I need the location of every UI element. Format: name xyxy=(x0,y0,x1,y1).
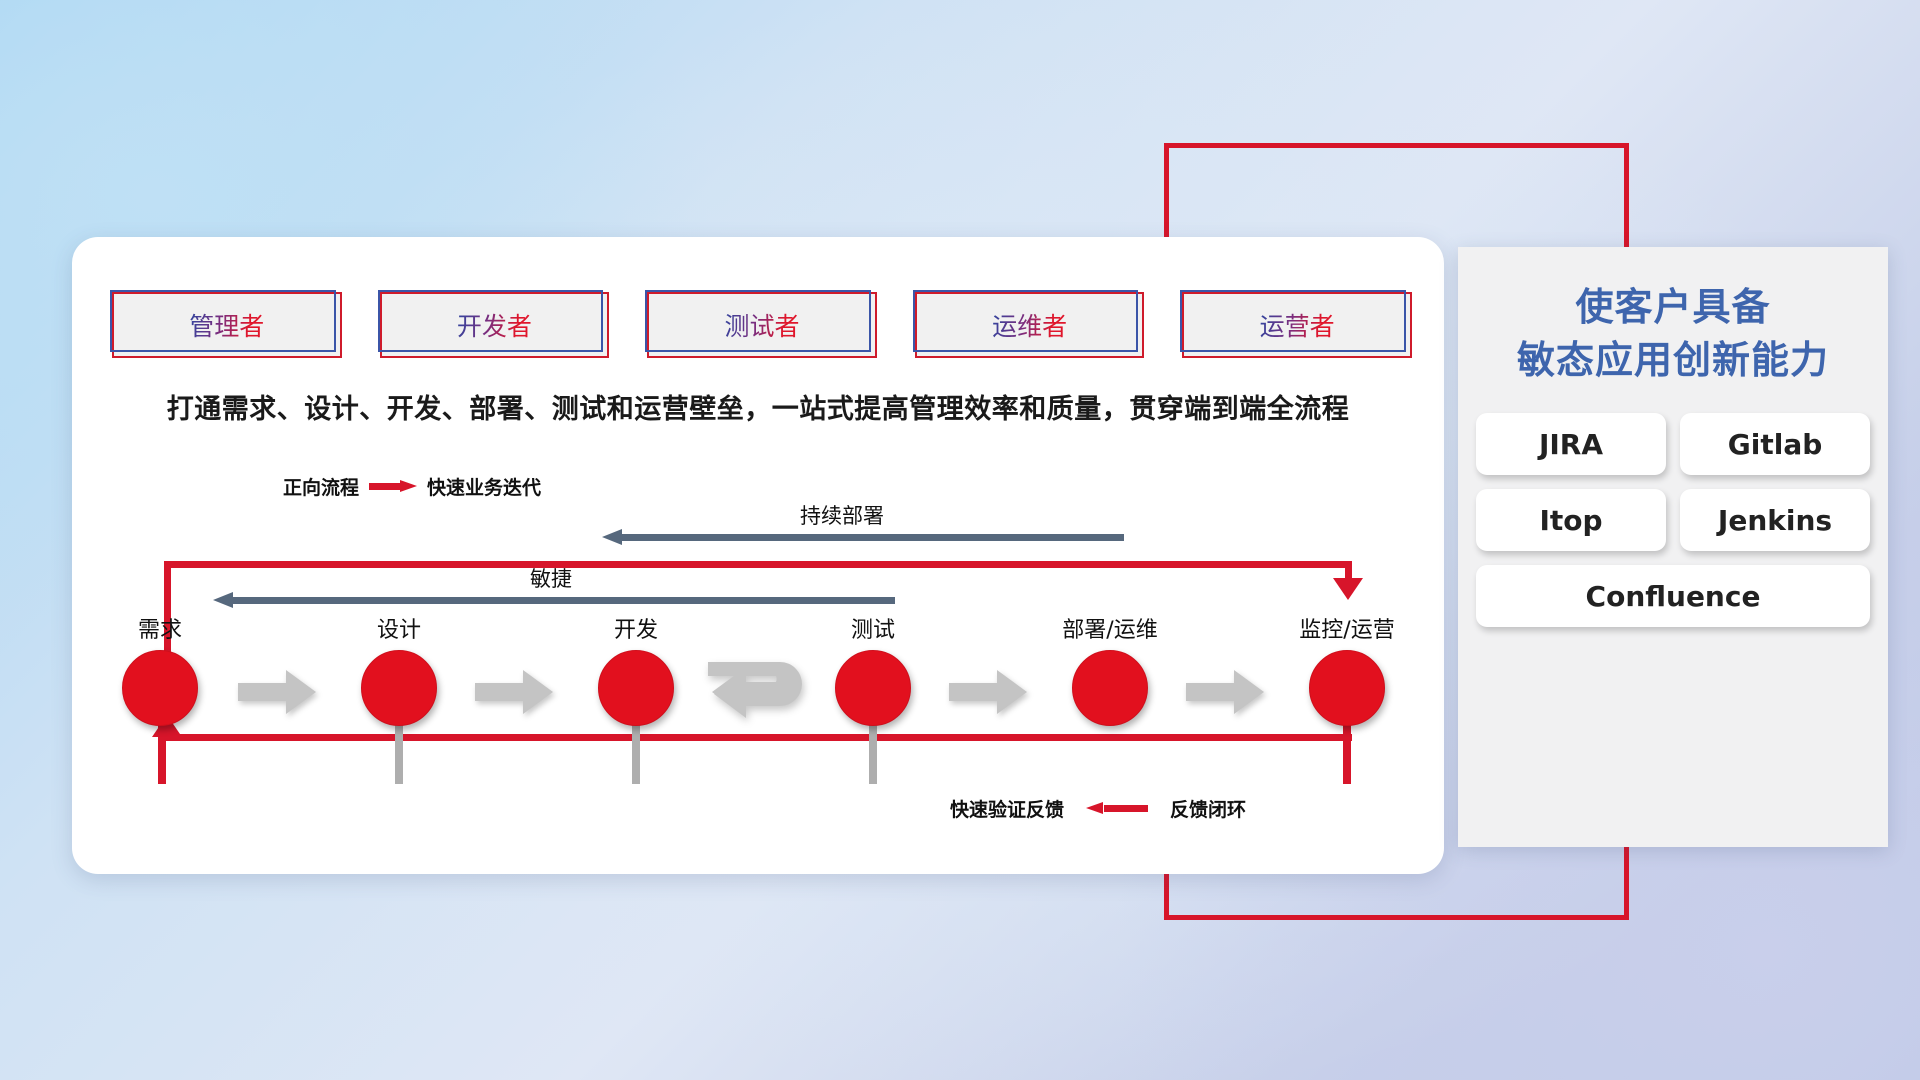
legend-forward-left-label: 正向流程 xyxy=(283,473,359,500)
role-label: 测试者 xyxy=(724,307,799,343)
legend-forward-flow: 正向流程 快速业务迭代 xyxy=(283,473,541,500)
stage-dot xyxy=(598,650,674,726)
stage-testing[interactable]: 测试 xyxy=(813,612,933,726)
panel-title-line2: 敏态应用创新能力 xyxy=(1458,334,1888,387)
stage-label: 设计 xyxy=(339,612,459,644)
role-label: 管理者 xyxy=(189,307,264,343)
role-label: 开发者 xyxy=(457,307,532,343)
loop-cycle-arrow-icon xyxy=(706,656,816,720)
panel-title-line1: 使客户具备 xyxy=(1458,281,1888,334)
span-label-continuous-deployment: 持续部署 xyxy=(800,500,884,530)
stage-dot xyxy=(1309,650,1385,726)
arrow-right-gray-icon xyxy=(475,670,553,714)
stage-dot xyxy=(122,650,198,726)
stage-label: 需求 xyxy=(100,612,220,644)
role-box-row: 管理者 开发者 测试者 运维者 运营者 xyxy=(112,292,1412,358)
arrow-head-left-icon xyxy=(213,592,233,608)
stage-row: 需求 设计 开发 测试 部署/运维 监控/运营 xyxy=(100,612,1390,752)
arrow-bar xyxy=(620,534,1124,541)
stage-label: 部署/运维 xyxy=(1050,612,1170,644)
arrow-head-left-icon xyxy=(602,529,622,545)
tool-item-itop[interactable]: Itop xyxy=(1476,489,1666,551)
tool-list: JIRA Gitlab Itop Jenkins Confluence xyxy=(1476,413,1870,627)
role-box-operations[interactable]: 运营者 xyxy=(1182,292,1412,358)
role-box-tester[interactable]: 测试者 xyxy=(647,292,877,358)
stage-requirement[interactable]: 需求 xyxy=(100,612,220,726)
tool-item-jira[interactable]: JIRA xyxy=(1476,413,1666,475)
tools-panel: 使客户具备 敏态应用创新能力 JIRA Gitlab Itop Jenkins … xyxy=(1458,247,1888,847)
arrow-right-gray-icon xyxy=(238,670,316,714)
stage-dot xyxy=(361,650,437,726)
loop-arrow-down-icon xyxy=(1333,578,1363,600)
role-label: 运维者 xyxy=(992,307,1067,343)
legend-feedback-loop: 快速验证反馈 反馈闭环 xyxy=(950,795,1246,822)
span-arrow-continuous-deployment xyxy=(602,529,1142,545)
headline-text: 打通需求、设计、开发、部署、测试和运营壁垒，一站式提高管理效率和质量，贯穿端到端… xyxy=(72,387,1444,426)
stage-development[interactable]: 开发 xyxy=(576,612,696,726)
panel-title: 使客户具备 敏态应用创新能力 xyxy=(1458,281,1888,387)
stage-label: 开发 xyxy=(576,612,696,644)
stage-dot xyxy=(835,650,911,726)
arrow-right-gray-icon xyxy=(1186,670,1264,714)
arrow-right-red-icon xyxy=(369,480,417,493)
span-arrow-agile xyxy=(213,592,895,608)
role-box-developer[interactable]: 开发者 xyxy=(380,292,610,358)
tool-item-gitlab[interactable]: Gitlab xyxy=(1680,413,1870,475)
connector-frame-bottom xyxy=(1164,915,1629,920)
stage-label: 测试 xyxy=(813,612,933,644)
stage-dot xyxy=(1072,650,1148,726)
role-box-ops[interactable]: 运维者 xyxy=(915,292,1145,358)
stage-label: 监控/运营 xyxy=(1287,612,1407,644)
stage-deploy-ops[interactable]: 部署/运维 xyxy=(1050,612,1170,726)
role-box-manager[interactable]: 管理者 xyxy=(112,292,342,358)
span-label-agile: 敏捷 xyxy=(530,563,572,593)
legend-forward-right-label: 快速业务迭代 xyxy=(427,473,541,500)
stage-design[interactable]: 设计 xyxy=(339,612,459,726)
arrow-bar xyxy=(231,597,895,604)
tool-item-jenkins[interactable]: Jenkins xyxy=(1680,489,1870,551)
tool-item-confluence[interactable]: Confluence xyxy=(1476,565,1870,627)
legend-feedback-right-label: 反馈闭环 xyxy=(1170,795,1246,822)
loop-path-top xyxy=(164,561,1352,568)
legend-feedback-left-label: 快速验证反馈 xyxy=(950,795,1064,822)
role-label: 运营者 xyxy=(1260,307,1335,343)
stage-monitor-operate[interactable]: 监控/运营 xyxy=(1287,612,1407,726)
main-card: 管理者 开发者 测试者 运维者 运营者 打通需求、设计、开发、部署、测试和运营壁… xyxy=(72,237,1444,874)
arrow-right-gray-icon xyxy=(949,670,1027,714)
arrow-left-red-icon xyxy=(1086,802,1148,815)
